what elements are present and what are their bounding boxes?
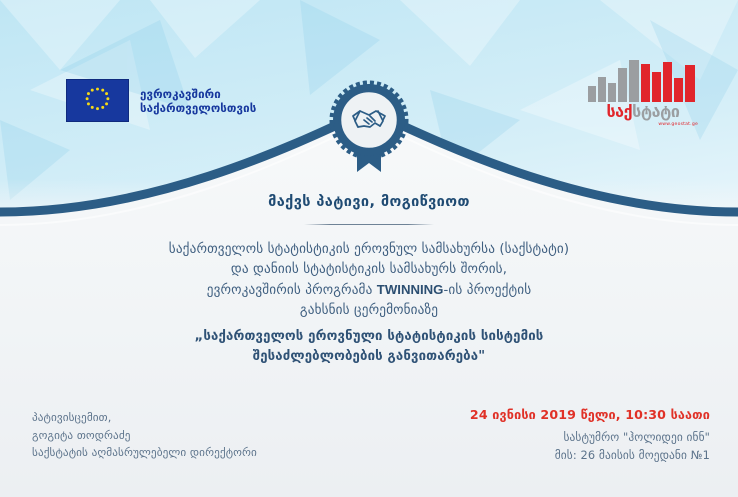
body-line-3-pre: ევროკავშირის პროგრამა	[207, 283, 377, 298]
signature-block: პატივისცემით, გოგიტა თოდრაძე საქსტატის ა…	[32, 409, 257, 462]
heading-divider	[304, 224, 434, 225]
geostat-wordmark-gray: სტატი	[632, 102, 679, 121]
invitation-card: ევროკავშირი საქართველოსთვის საქსტატი www…	[0, 0, 738, 497]
event-venue-name: სასტუმრო "ჰოლიდეი ინნ"	[470, 428, 710, 446]
handshake-rosette-badge-icon	[323, 80, 415, 180]
eu-logo-block: ევროკავშირი საქართველოსთვის	[66, 79, 256, 122]
greeting-heading: მაქვს პატივი, მოგიწვიოთ	[0, 194, 738, 210]
event-details-block: 24 ივნისი 2019 წელი, 10:30 საათი სასტუმრ…	[470, 405, 710, 464]
eu-logo-text: ევროკავშირი საქართველოსთვის	[140, 87, 256, 115]
body-line-4: გახსნის ცერემონიაზე	[0, 301, 738, 321]
body-line-3-post: -ის პროექტის	[443, 283, 531, 298]
body-line-2: და დანიის სტატისტიკის სამსახურს შორის,	[0, 260, 738, 280]
body-line-3: ევროკავშირის პროგრამა TWINNING-ის პროექტ…	[0, 280, 738, 301]
eu-logo-line-1: ევროკავშირი	[140, 87, 256, 101]
event-date: 24 ივნისი 2019 წელი, 10:30 საათი	[470, 405, 710, 424]
geostat-wordmark-red: საქ	[606, 102, 632, 121]
signature-line-2: გოგიტა თოდრაძე	[32, 427, 257, 445]
event-venue-block: სასტუმრო "ჰოლიდეი ინნ" მის: 26 მაისის მო…	[470, 428, 710, 464]
geostat-bars-icon	[584, 60, 702, 102]
project-title-line-2: შესაძლებლობების განვითარება"	[0, 347, 738, 367]
twinning-brand: TWINNING	[377, 282, 444, 297]
geostat-logo: საქსტატი www.geostat.ge	[584, 62, 702, 128]
event-venue-address: მის: 26 მაისის მოედანი №1	[470, 446, 710, 464]
eu-logo-line-2: საქართველოსთვის	[140, 101, 256, 115]
geostat-wordmark: საქსტატი	[584, 104, 702, 120]
signature-line-3: საქსტატის აღმასრულებელი დირექტორი	[32, 444, 257, 462]
european-union-flag-icon	[66, 79, 129, 122]
geostat-url: www.geostat.ge	[658, 122, 698, 127]
invitation-body: საქართველოს სტატისტიკის ეროვნულ სამსახურ…	[0, 240, 738, 367]
body-line-1: საქართველოს სტატისტიკის ეროვნულ სამსახურ…	[0, 240, 738, 260]
signature-line-1: პატივისცემით,	[32, 409, 257, 427]
project-title-line-1: „საქართველოს ეროვნული სტატისტიკის სისტემ…	[0, 327, 738, 347]
